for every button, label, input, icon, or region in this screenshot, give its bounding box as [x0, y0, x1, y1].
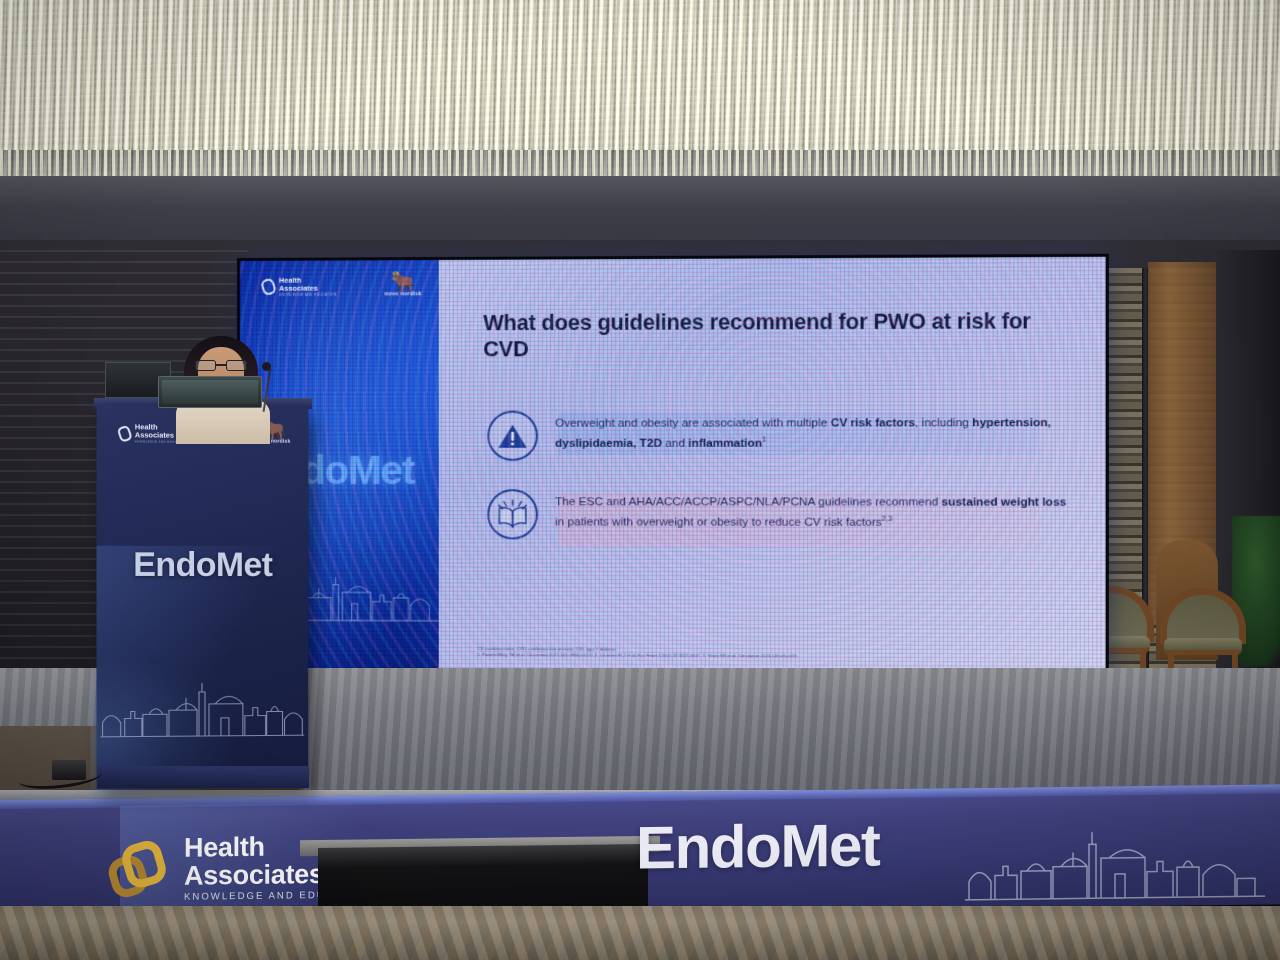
b2-s0: The ESC and AHA/ACC/ACCP/ASPC/NLA/PCNA g…	[555, 495, 941, 508]
speaker-podium: Health Associates KNOWLEDGE AND EDUCATIO…	[96, 405, 308, 789]
b1-sup: 1	[762, 435, 766, 444]
b1-s1: CV risk factors	[831, 416, 915, 429]
slide-footnotes: CV, cardiovascular; CVD, cardiovascular …	[477, 646, 1078, 661]
health-associates-logo: Health Associates KNOWLEDGE AND EDUCATIO…	[262, 277, 337, 297]
led-presentation-screen: Health Associates KNOWLEDGE AND EDUCATIO…	[237, 254, 1109, 683]
chair-back	[1160, 588, 1246, 644]
bullet-1-text: Overweight and obesity are associated wi…	[555, 410, 1079, 453]
b1-s4: and	[662, 437, 688, 450]
glasses-bridge	[216, 364, 226, 366]
podium-base	[97, 766, 309, 788]
slide-surface: Health Associates KNOWLEDGE AND EDUCATIO…	[240, 257, 1106, 679]
open-book-glyph	[496, 499, 528, 529]
b2-s1: sustained weight loss	[942, 495, 1067, 508]
wooden-armchair	[1160, 588, 1246, 680]
banner-city-skyline-icon	[965, 816, 1265, 904]
slide-content: What does guidelines recommend for PWO a…	[439, 257, 1106, 679]
presentation-photo-scene: Health Associates KNOWLEDGE AND EDUCATIO…	[0, 0, 1280, 960]
b1-s0: Overweight and obesity are associated wi…	[555, 416, 831, 429]
nn-wordmark: novo nordisk	[384, 291, 421, 297]
footnote-references: 1. Powell-Wiley TM et al. Circulation 20…	[477, 652, 1078, 661]
ha-line2: Associates	[279, 285, 337, 293]
interlocking-rings-icon	[117, 424, 133, 442]
lens-right	[226, 360, 247, 371]
carpet-floor	[0, 906, 1280, 960]
podium-wordmark: EndoMet	[96, 546, 308, 585]
warning-triangle-icon	[487, 411, 538, 461]
slide-title: What does guidelines recommend for PWO a…	[483, 308, 1074, 362]
interlocking-rings-icon	[110, 840, 172, 899]
glasses-icon	[195, 360, 247, 371]
chair-seat	[1164, 638, 1242, 655]
ha-tagline: KNOWLEDGE AND EDUCATION	[279, 293, 337, 297]
novo-nordisk-logo: 🐂 novo nordisk	[384, 274, 421, 297]
banner-wordmark: EndoMet	[636, 811, 880, 883]
slide-logo-row: Health Associates KNOWLEDGE AND EDUCATIO…	[262, 274, 429, 315]
slide-bullet-1: Overweight and obesity are associated wi…	[487, 410, 1078, 461]
apis-bull-icon: 🐂	[384, 274, 421, 291]
laptop-screen	[162, 380, 258, 404]
b1-s5: inflammation	[688, 437, 762, 450]
open-book-icon	[487, 489, 538, 539]
bullet-2-text: The ESC and AHA/ACC/ACCP/ASPC/NLA/PCNA g…	[555, 489, 1079, 532]
b2-sup: 2,3	[882, 514, 893, 523]
b1-s2: , including	[915, 416, 972, 429]
warning-triangle-glyph	[497, 422, 527, 449]
interlocking-rings-icon	[260, 277, 277, 296]
podium-city-skyline-icon	[101, 676, 305, 739]
slide-bullet-2: The ESC and AHA/ACC/ACCP/ASPC/NLA/PCNA g…	[487, 489, 1078, 540]
b2-s2: in patients with overweight or obesity t…	[555, 516, 882, 530]
lens-left	[195, 360, 216, 371]
presenter-laptop	[158, 376, 262, 408]
